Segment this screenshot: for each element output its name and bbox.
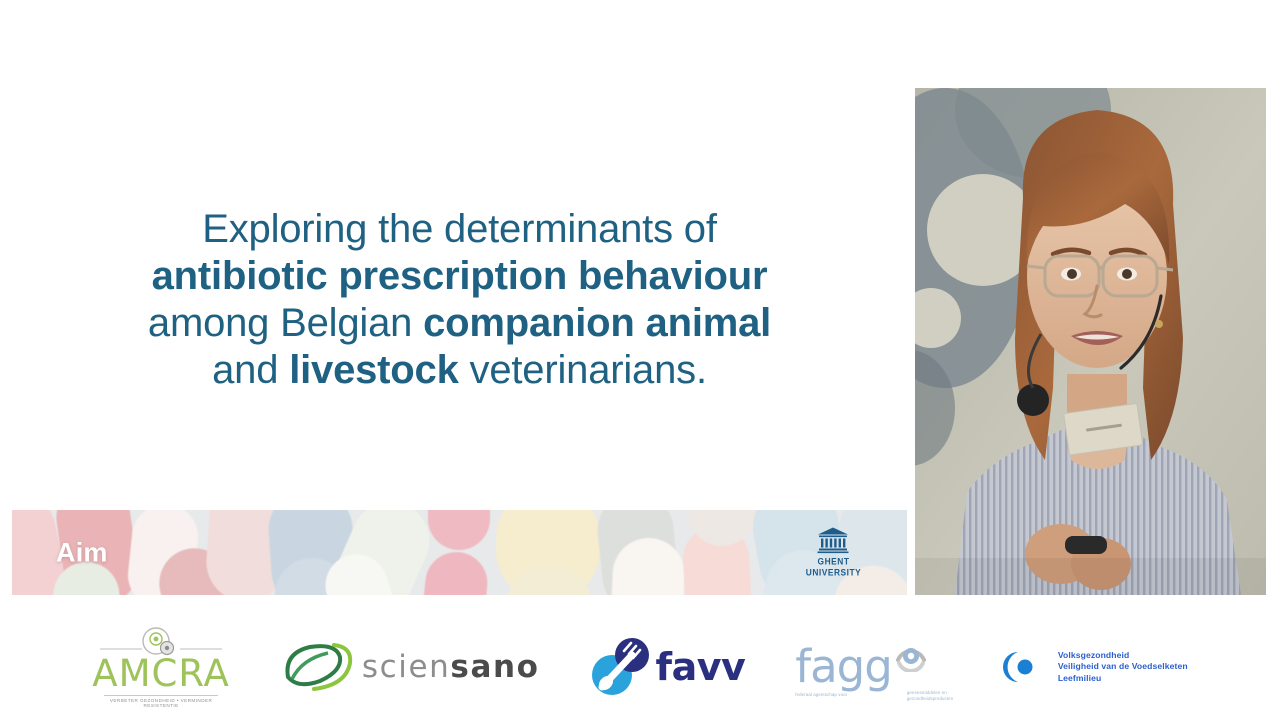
ghent-university-line-2: UNIVERSITY — [806, 567, 861, 578]
slide-title: Exploring the determinants of antibiotic… — [12, 206, 907, 394]
presentation-stage: Exploring the determinants of antibiotic… — [0, 0, 1280, 720]
amcra-wordmark: AMCRA — [92, 657, 230, 691]
title-line-1: Exploring the determinants of — [202, 207, 717, 251]
fagg-pill-icon — [893, 638, 929, 672]
fps-circle-icon — [1001, 643, 1049, 691]
banner-pill — [420, 549, 491, 595]
sciensano-wordmark-dark: sano — [450, 649, 539, 685]
title-line-4-plain-b: veterinarians. — [459, 348, 707, 392]
title-line-4-plain-a: and — [212, 348, 289, 392]
fagg-wordmark: fagg — [795, 647, 892, 687]
classical-building-icon — [802, 527, 865, 553]
title-line-4-bold: livestock — [289, 348, 458, 392]
video-image — [915, 88, 1266, 595]
fagg-subtitle-right: geneesmiddelen en gezondheidsproducten — [907, 690, 965, 702]
amcra-logo: AMCRA VERBETER GEZONDHEID • VERMINDER RE… — [92, 622, 230, 712]
sciensano-wordmark-light: scien — [362, 649, 451, 685]
favv-logo: favv — [590, 622, 746, 712]
fps-line-2: Veiligheid van de Voedselketen — [1058, 661, 1188, 673]
favv-wordmark: favv — [656, 649, 746, 685]
slide-panel: Exploring the determinants of antibiotic… — [12, 88, 907, 595]
aim-banner: Aim GHENT — [12, 510, 907, 595]
sciensano-leaf-icon — [280, 637, 358, 697]
title-line-3-plain: among Belgian — [148, 301, 423, 345]
title-line-3-bold: companion animal — [423, 301, 771, 345]
fagg-subtitle-left: federaal agentschap voor — [795, 692, 851, 698]
amcra-tagline: VERBETER GEZONDHEID • VERMINDER RESISTEN… — [104, 695, 218, 708]
fps-public-health-logo: Volksgezondheid Veiligheid van de Voedse… — [1001, 622, 1188, 712]
ghent-university-line-1: GHENT — [806, 556, 861, 567]
fps-line-3: Leefmilieu — [1058, 673, 1188, 685]
speaker-video-feed[interactable] — [915, 88, 1266, 595]
ghent-university-logo: GHENT UNIVERSITY — [802, 527, 865, 578]
partner-logo-strip: AMCRA VERBETER GEZONDHEID • VERMINDER RE… — [0, 614, 1280, 720]
title-line-2: antibiotic prescription behaviour — [152, 254, 768, 298]
banner-pill — [428, 510, 490, 550]
aim-label: Aim — [56, 537, 108, 568]
favv-cutlery-icon — [590, 637, 652, 697]
sciensano-logo: sciensano — [280, 622, 540, 712]
fagg-logo: fagg federaal agentschap voor geneesmidd… — [795, 622, 951, 712]
fps-line-1: Volksgezondheid — [1058, 650, 1188, 662]
